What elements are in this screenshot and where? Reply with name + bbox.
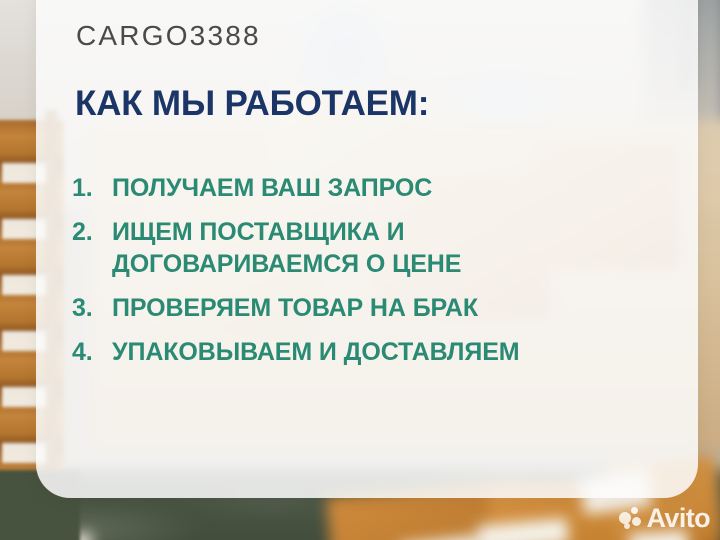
step-number: 2. [72,216,112,248]
step-number: 3. [72,292,112,324]
list-item: 3. ПРОВЕРЯЕМ ТОВАР НА БРАК [72,292,692,324]
list-item: 4. УПАКОВЫВАЕМ И ДОСТАВЛЯЕМ [72,336,692,368]
step-label: ПРОВЕРЯЕМ ТОВАР НА БРАК [112,292,692,324]
step-label: ПОЛУЧАЕМ ВАШ ЗАПРОС [112,172,692,204]
list-item: 1. ПОЛУЧАЕМ ВАШ ЗАПРОС [72,172,692,204]
step-label: УПАКОВЫВАЕМ И ДОСТАВЛЯЕМ [112,336,692,368]
avito-dots-icon [619,507,643,531]
card-content: CARGO3388 КАК МЫ РАБОТАЕМ: 1. ПОЛУЧАЕМ В… [36,0,698,498]
list-item: 2. ИЩЕМ ПОСТАВЩИКА И ДОГОВАРИВАЕМСЯ О ЦЕ… [72,216,692,280]
steps-list: 1. ПОЛУЧАЕМ ВАШ ЗАПРОС 2. ИЩЕМ ПОСТАВЩИК… [72,172,692,380]
page-title: КАК МЫ РАБОТАЕМ: [75,84,429,124]
avito-wordmark: Avito [647,505,711,532]
avito-watermark: Avito [619,505,711,532]
promo-image: CARGO3388 КАК МЫ РАБОТАЕМ: 1. ПОЛУЧАЕМ В… [0,0,720,540]
step-number: 4. [72,336,112,368]
step-label: ИЩЕМ ПОСТАВЩИКА И ДОГОВАРИВАЕМСЯ О ЦЕНЕ [112,216,692,280]
step-number: 1. [72,172,112,204]
brand-logo-text: CARGO3388 [76,20,261,52]
